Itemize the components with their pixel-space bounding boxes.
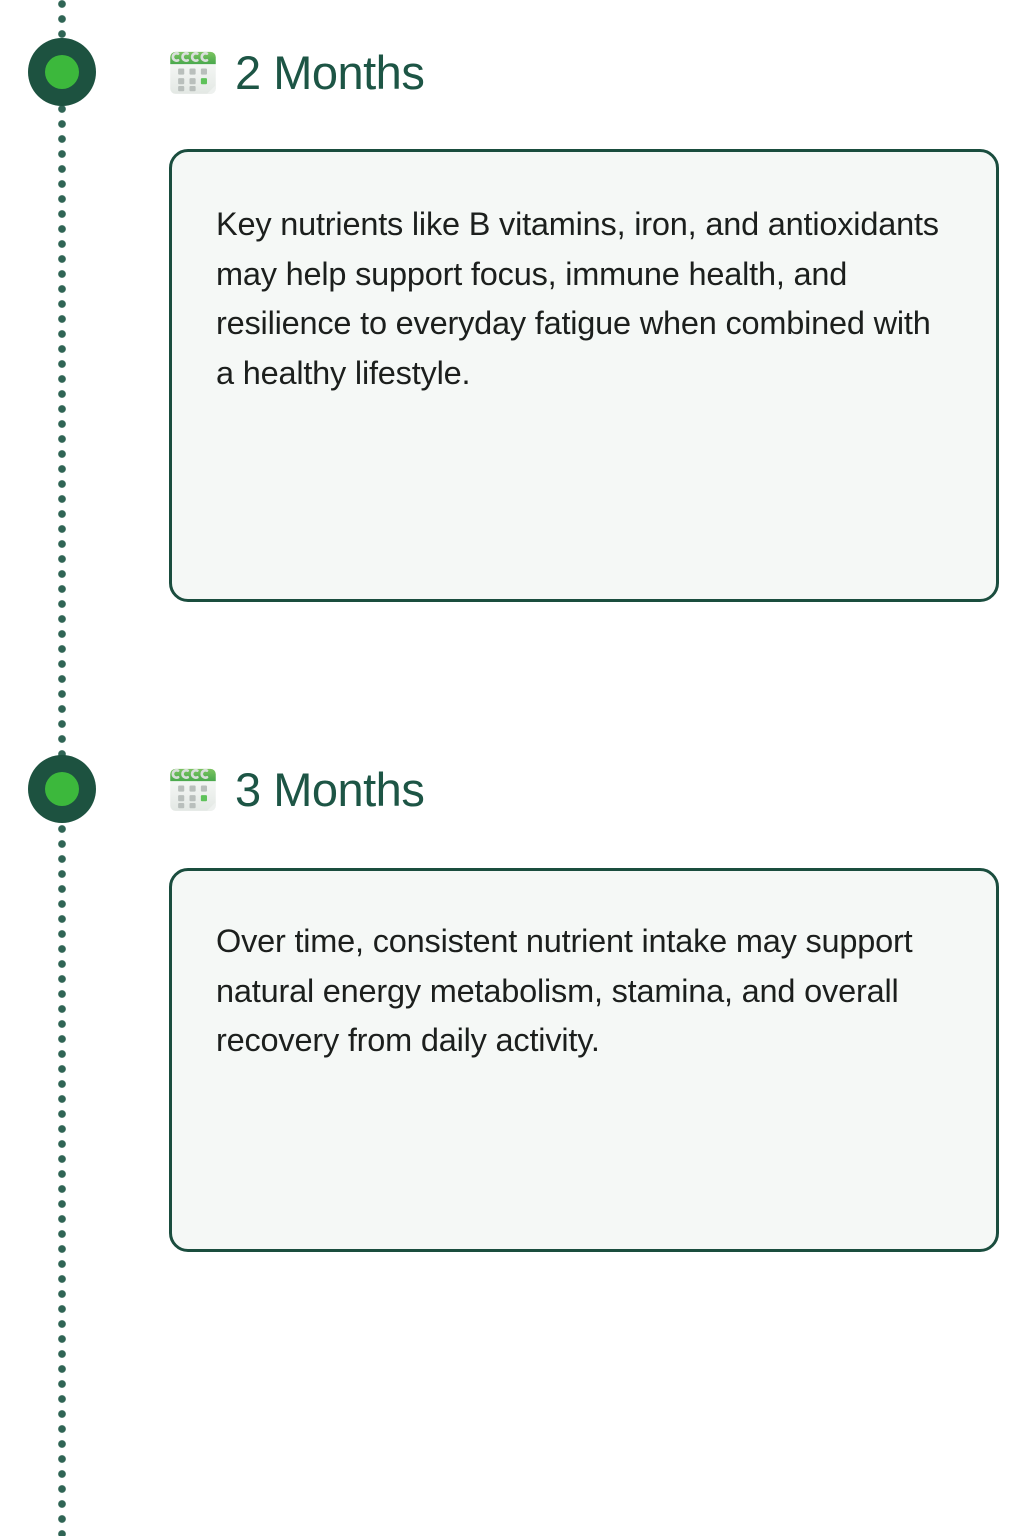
timeline-card-3-months: Over time, consistent nutrient intake ma… [169,868,999,1252]
timeline-marker-inner-dot [45,772,79,806]
timeline-card-body: Over time, consistent nutrient intake ma… [216,917,952,1066]
timeline-heading-label: 2 Months [235,49,424,96]
spiral-calendar-icon [165,761,221,817]
spiral-calendar-icon [165,44,221,100]
timeline-marker-2-months[interactable] [28,38,96,106]
timeline-marker-3-months[interactable] [28,755,96,823]
timeline-card-body: Key nutrients like B vitamins, iron, and… [216,200,952,399]
timeline-marker-inner-dot [45,55,79,89]
timeline-heading-3-months: 3 Months [165,753,424,825]
timeline-root: 2 Months Key nutrients like B vitamins, … [0,0,1024,1536]
timeline-heading-2-months: 2 Months [165,36,424,108]
timeline-card-2-months: Key nutrients like B vitamins, iron, and… [169,149,999,602]
timeline-heading-label: 3 Months [235,766,424,813]
